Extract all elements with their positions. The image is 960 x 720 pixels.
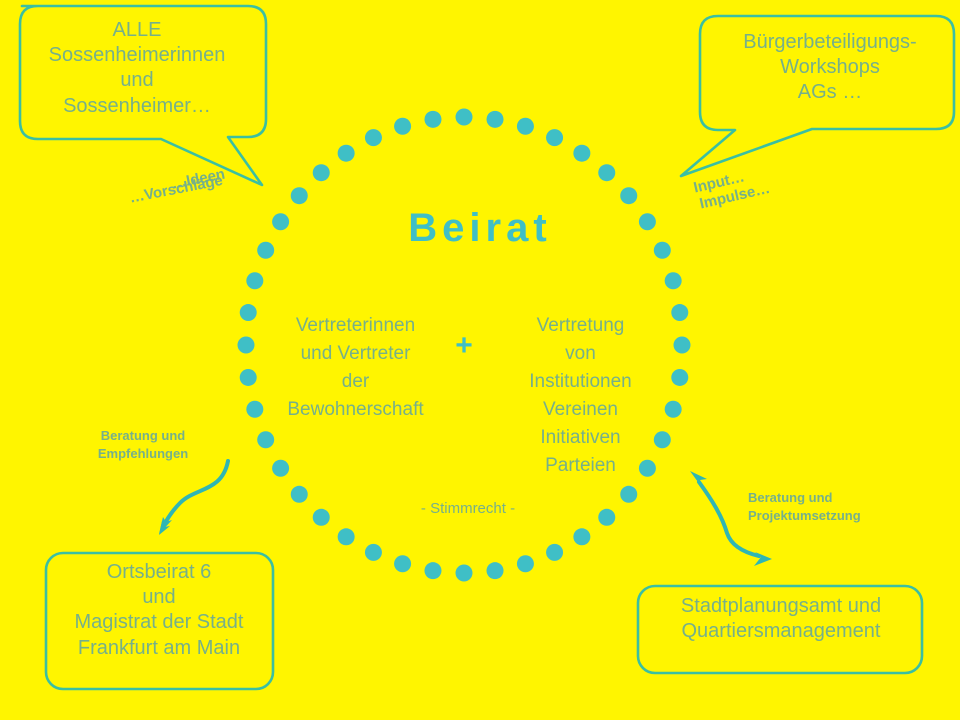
ring-dot <box>573 528 590 545</box>
ring-dot <box>394 555 411 572</box>
callout-top-left-text: ALLE Sossenheimerinnen und Sossenheimer… <box>22 18 252 119</box>
ring-dot <box>394 118 411 135</box>
ring-dot <box>313 164 330 181</box>
ring-dot <box>487 111 504 128</box>
callout-top-right-text: Bürgerbeteiligungs- Workshops AGs … <box>714 30 946 106</box>
arrow-caption-right: Beratung und Projektumsetzung <box>748 489 913 524</box>
ring-dot <box>654 242 671 259</box>
ring-dot <box>573 145 590 162</box>
ring-dot <box>338 145 355 162</box>
center-footnote: - Stimmrecht - <box>378 500 558 519</box>
ring-dot <box>240 369 257 386</box>
plus-icon: + <box>447 327 481 365</box>
ring-dot <box>365 544 382 561</box>
ring-dot <box>517 555 534 572</box>
ring-dot <box>257 431 274 448</box>
ring-dot <box>517 118 534 135</box>
ring-dot <box>238 337 255 354</box>
ring-dot <box>424 562 441 579</box>
callout-bottom-right-text: Stadtplanungsamt und Quartiersmanagement <box>642 594 920 644</box>
ring-dot <box>338 528 355 545</box>
ring-dot <box>272 213 289 230</box>
ring-dot <box>665 401 682 418</box>
ring-dot <box>620 486 637 503</box>
page-title: Beirat <box>330 203 630 253</box>
ring-dot <box>291 187 308 204</box>
ring-dot <box>671 304 688 321</box>
ring-dot <box>665 272 682 289</box>
center-right-column: Vertretung von Institutionen Vereinen In… <box>498 312 663 480</box>
diagram-canvas: ALLE Sossenheimerinnen und Sossenheimer…… <box>0 0 960 720</box>
ring-dot <box>272 460 289 477</box>
callout-bottom-left-text: Ortsbeirat 6 und Magistrat der Stadt Fra… <box>50 560 268 661</box>
ring-dot <box>291 486 308 503</box>
ring-dot <box>365 129 382 146</box>
ring-dot <box>546 129 563 146</box>
ring-dot <box>598 164 615 181</box>
ring-dot <box>620 187 637 204</box>
ring-dot <box>456 565 473 582</box>
ring-dot <box>487 562 504 579</box>
ring-dot <box>671 369 688 386</box>
ring-dot <box>257 242 274 259</box>
ring-dot <box>674 337 691 354</box>
arrow-caption-left: Beratung und Empfehlungen <box>78 427 208 462</box>
ring-dot <box>456 109 473 126</box>
ring-dot <box>313 509 330 526</box>
center-left-column: Vertreterinnen und Vertreter der Bewohne… <box>268 312 443 424</box>
ring-dot <box>546 544 563 561</box>
ring-dot <box>424 111 441 128</box>
ring-dot <box>240 304 257 321</box>
ring-dot <box>639 213 656 230</box>
arrow-left <box>159 461 228 535</box>
ring-dot <box>598 509 615 526</box>
ring-dot <box>246 272 263 289</box>
ring-dot <box>246 401 263 418</box>
